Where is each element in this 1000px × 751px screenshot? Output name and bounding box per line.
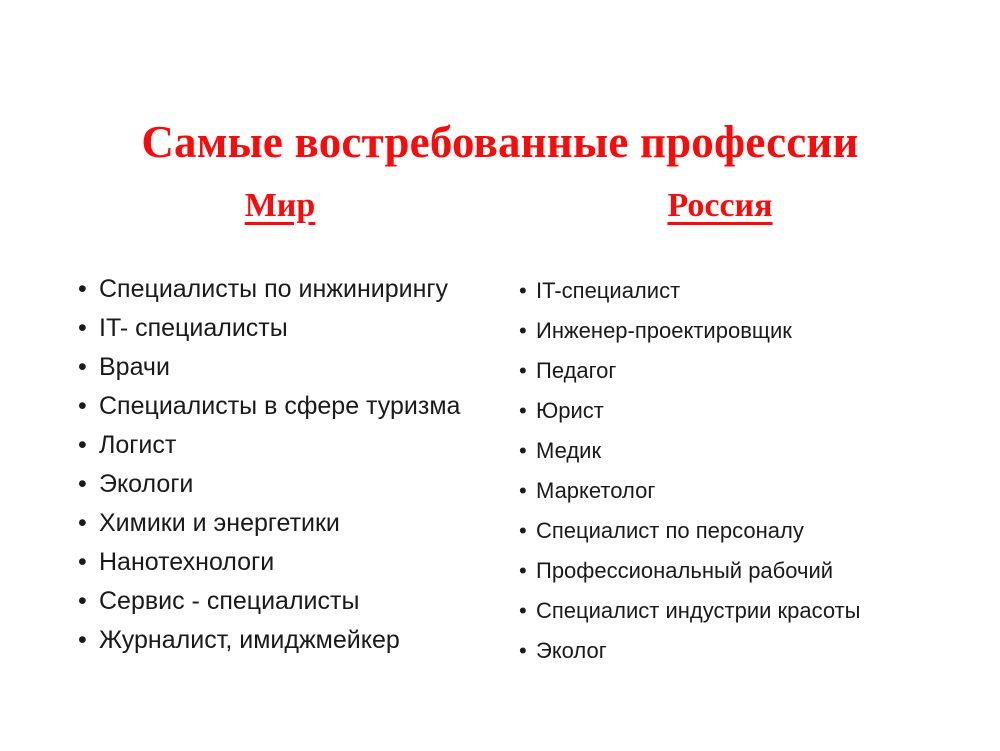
list-item: •Специалист по персоналу <box>519 517 861 557</box>
bullet-icon: • <box>519 557 527 585</box>
bullet-icon: • <box>78 469 87 499</box>
list-item: •Нанотехнологи <box>78 547 460 586</box>
list-item-label: Специалист по персоналу <box>536 517 804 545</box>
list-item-label: IT-специалист <box>536 277 680 305</box>
bullet-icon: • <box>78 391 87 421</box>
bullet-icon: • <box>78 586 87 616</box>
bullet-icon: • <box>78 430 87 460</box>
list-item-label: Экологи <box>99 469 193 499</box>
list-item-label: IT- специалисты <box>99 313 288 343</box>
list-item-label: Медик <box>536 437 601 465</box>
list-item-label: Врачи <box>99 352 170 382</box>
list-item-label: Логист <box>99 430 176 460</box>
bullet-icon: • <box>519 317 527 345</box>
list-item-label: Нанотехнологи <box>99 547 274 577</box>
list-item-label: Эколог <box>536 637 607 665</box>
list-item: •Журналист, имиджмейкер <box>78 625 460 664</box>
list-item: •Специалисты по инжинирингу <box>78 274 460 313</box>
list-item: •Медик <box>519 437 861 477</box>
bullet-icon: • <box>78 508 87 538</box>
list-item-label: Маркетолог <box>536 477 655 505</box>
list-item-label: Педагог <box>536 357 616 385</box>
bullet-icon: • <box>519 477 527 505</box>
list-item-label: Специалист индустрии красоты <box>536 597 861 625</box>
bullet-icon: • <box>519 357 527 385</box>
list-item-label: Химики и энергетики <box>99 508 340 538</box>
list-item-label: Сервис - специалисты <box>99 586 359 616</box>
list-item: •Инженер-проектировщик <box>519 317 861 357</box>
column-header-russia: Россия <box>500 186 940 226</box>
profession-list-world: •Специалисты по инжинирингу•IT- специали… <box>78 274 460 664</box>
page-title: Самые востребованные профессии <box>0 116 1000 168</box>
bullet-icon: • <box>519 517 527 545</box>
profession-list-russia: •IT-специалист•Инженер-проектировщик•Пед… <box>519 277 861 677</box>
list-item: •Экологи <box>78 469 460 508</box>
bullet-icon: • <box>78 547 87 577</box>
list-item-label: Профессиональный рабочий <box>536 557 833 585</box>
list-item: •Логист <box>78 430 460 469</box>
list-item: •Юрист <box>519 397 861 437</box>
list-item: •Врачи <box>78 352 460 391</box>
bullet-icon: • <box>78 352 87 382</box>
list-item: •Профессиональный рабочий <box>519 557 861 597</box>
bullet-icon: • <box>78 625 87 655</box>
column-header-world: Мир <box>0 186 560 226</box>
list-item: •Сервис - специалисты <box>78 586 460 625</box>
bullet-icon: • <box>519 437 527 465</box>
bullet-icon: • <box>78 313 87 343</box>
bullet-icon: • <box>519 277 527 305</box>
list-item-label: Специалисты в сфере туризма <box>99 391 460 421</box>
bullet-icon: • <box>519 637 527 665</box>
bullet-icon: • <box>519 597 527 625</box>
list-item: •IT-специалист <box>519 277 861 317</box>
slide-canvas: Самые востребованные профессии Мир Росси… <box>0 0 1000 751</box>
bullet-icon: • <box>78 274 87 304</box>
list-item: •Педагог <box>519 357 861 397</box>
list-item-label: Журналист, имиджмейкер <box>99 625 400 655</box>
list-item: •Специалист индустрии красоты <box>519 597 861 637</box>
list-item-label: Специалисты по инжинирингу <box>99 274 448 304</box>
list-item-label: Инженер-проектировщик <box>536 317 792 345</box>
list-item: •Эколог <box>519 637 861 677</box>
list-item-label: Юрист <box>536 397 604 425</box>
list-item: •IT- специалисты <box>78 313 460 352</box>
list-item: •Специалисты в сфере туризма <box>78 391 460 430</box>
list-item: •Маркетолог <box>519 477 861 517</box>
bullet-icon: • <box>519 397 527 425</box>
list-item: •Химики и энергетики <box>78 508 460 547</box>
